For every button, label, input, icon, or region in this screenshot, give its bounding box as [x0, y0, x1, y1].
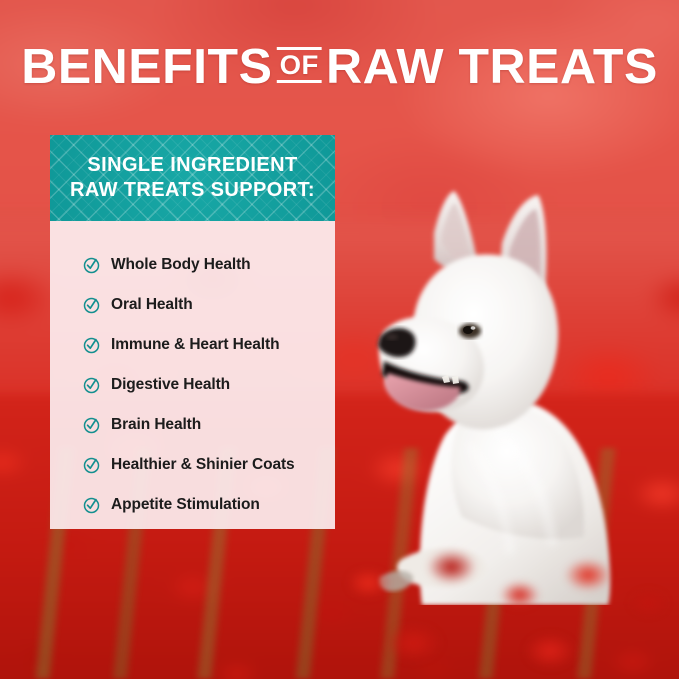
benefit-label: Whole Body Health: [111, 256, 251, 274]
list-item: Immune & Heart Health: [83, 325, 335, 365]
check-circle-icon: [83, 297, 100, 314]
title-word-of: OF: [277, 47, 322, 83]
dog-photo: [350, 185, 679, 605]
card-header-line-2: RAW TREATS SUPPORT:: [70, 178, 315, 203]
page-title: BENEFITSOFRAW TREATS: [0, 38, 679, 93]
benefit-label: Immune & Heart Health: [111, 336, 279, 354]
benefit-label: Digestive Health: [111, 376, 230, 394]
list-item: Brain Health: [83, 405, 335, 445]
check-circle-icon: [83, 377, 100, 394]
list-item: Appetite Stimulation: [83, 485, 335, 525]
card-header: SINGLE INGREDIENT RAW TREATS SUPPORT:: [50, 135, 335, 221]
check-circle-icon: [83, 257, 100, 274]
benefit-label: Brain Health: [111, 416, 201, 434]
list-item: Healthier & Shinier Coats: [83, 445, 335, 485]
benefit-label: Appetite Stimulation: [111, 496, 260, 514]
list-item: Digestive Health: [83, 365, 335, 405]
benefit-label: Oral Health: [111, 296, 193, 314]
check-circle-icon: [83, 457, 100, 474]
check-circle-icon: [83, 417, 100, 434]
check-circle-icon: [83, 497, 100, 514]
check-circle-icon: [83, 337, 100, 354]
benefits-poster: BENEFITSOFRAW TREATS SINGLE INGREDIENT R…: [0, 0, 679, 679]
benefit-label: Healthier & Shinier Coats: [111, 456, 295, 474]
title-part-2: RAW TREATS: [326, 41, 658, 93]
list-item: Whole Body Health: [83, 245, 335, 285]
benefits-list: Whole Body Health Oral Health: [50, 221, 335, 525]
list-item: Oral Health: [83, 285, 335, 325]
card-header-line-1: SINGLE INGREDIENT: [87, 154, 297, 176]
card-header-text: SINGLE INGREDIENT RAW TREATS SUPPORT:: [58, 153, 327, 203]
title-part-1: BENEFITS: [21, 41, 272, 93]
benefits-card: SINGLE INGREDIENT RAW TREATS SUPPORT: Wh…: [50, 135, 335, 529]
